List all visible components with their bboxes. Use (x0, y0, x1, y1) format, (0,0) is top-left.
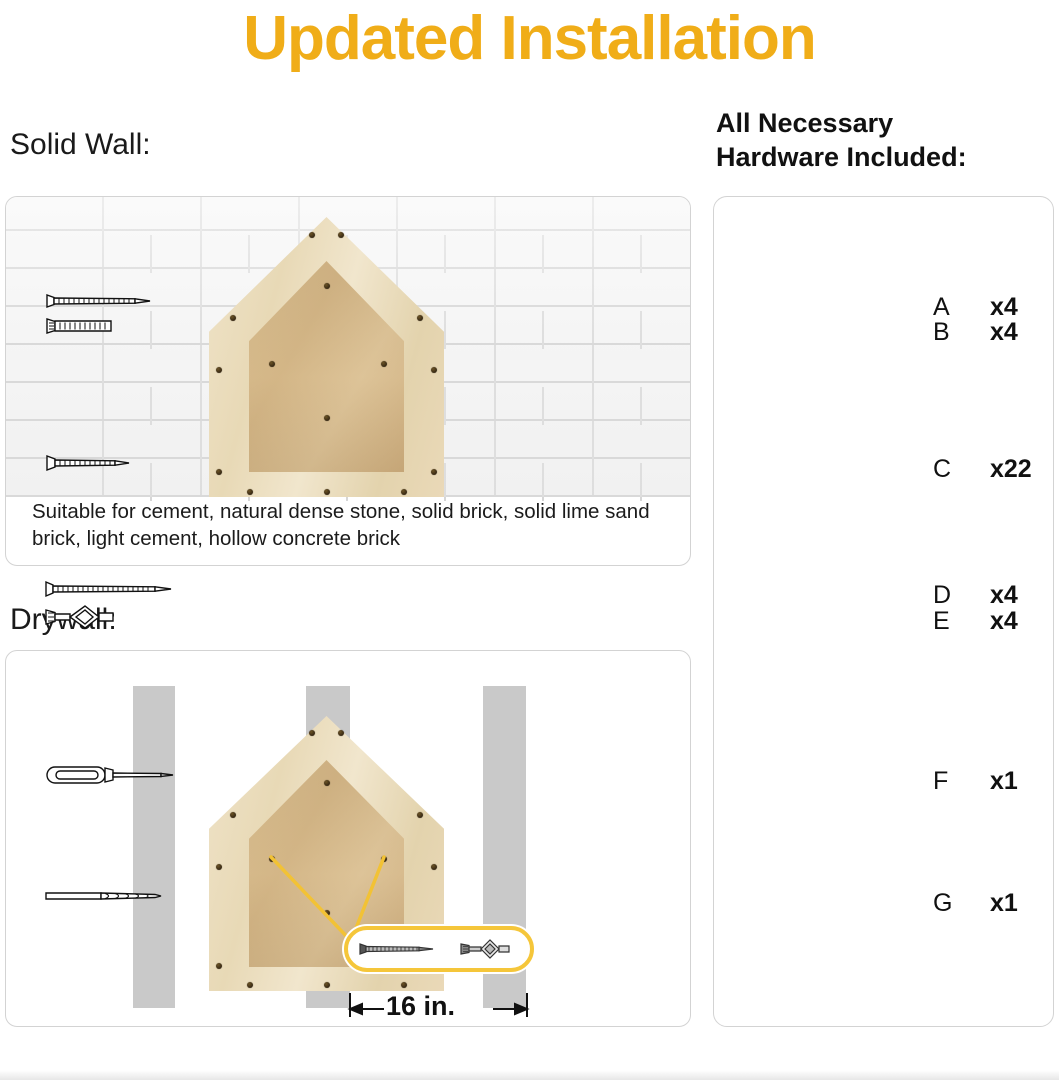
bottom-edge-divider (0, 1070, 1059, 1080)
infographic-root: Updated Installation Solid Wall: (0, 0, 1059, 1080)
solid-wall-heading: Solid Wall: (10, 126, 151, 164)
screw-hole (417, 315, 423, 321)
screw-hole (247, 982, 253, 988)
screw-hole (338, 232, 344, 238)
hardware-item-b (30, 315, 330, 337)
wood-screw-icon (43, 452, 163, 474)
hardware-qty-b: x4 (990, 317, 1018, 347)
screw-hole (324, 283, 330, 289)
screw-hole (381, 361, 387, 367)
screw-hole (401, 982, 407, 988)
drywall-anchor-callout (344, 926, 534, 972)
screw-hole (216, 367, 222, 373)
hardware-item-f (30, 760, 330, 790)
hardware-item-c (30, 452, 330, 474)
drill-bit-icon (43, 885, 183, 907)
hardware-heading: All Necessary Hardware Included: (716, 106, 967, 174)
screw-hole (247, 489, 253, 495)
hardware-item-a (30, 290, 330, 312)
long-screw-icon (43, 578, 183, 600)
hardware-heading-line2: Hardware Included: (716, 140, 967, 174)
hardware-item-g (30, 885, 330, 907)
screw-hole (324, 982, 330, 988)
hardware-code-b: B (933, 317, 950, 347)
hardware-item-d (30, 578, 330, 600)
screw-hole (381, 856, 387, 862)
molly-toggle-anchor-icon (459, 937, 521, 961)
screw-hole (269, 361, 275, 367)
hardware-qty-e: x4 (990, 606, 1018, 636)
screw-hole (230, 812, 236, 818)
long-screw-icon (357, 940, 441, 958)
flat-head-screw-icon (43, 290, 163, 312)
screw-hole (431, 469, 437, 475)
screw-hole (431, 864, 437, 870)
hardware-code-g: G (933, 888, 952, 918)
drywall-panel: 16 in. (5, 650, 691, 1027)
screw-hole (309, 232, 315, 238)
hardware-qty-c: x22 (990, 454, 1032, 484)
hardware-code-c: C (933, 454, 951, 484)
wall-plug-anchor-icon (43, 315, 163, 337)
hardware-code-e: E (933, 606, 950, 636)
wall-stud (133, 686, 175, 1008)
hardware-qty-f: x1 (990, 766, 1018, 796)
page-title: Updated Installation (0, 2, 1059, 76)
hardware-qty-g: x1 (990, 888, 1018, 918)
screw-hole (401, 489, 407, 495)
dimension-label: 16 in. (386, 991, 455, 1021)
screw-hole (417, 812, 423, 818)
screw-hole (324, 489, 330, 495)
screw-hole (309, 730, 315, 736)
hardware-item-e (30, 603, 330, 631)
screw-hole (216, 864, 222, 870)
screw-hole (338, 730, 344, 736)
screw-hole (324, 415, 330, 421)
molly-toggle-anchor-icon (43, 603, 163, 631)
hardware-code-f: F (933, 766, 948, 796)
hardware-heading-line1: All Necessary (716, 106, 967, 140)
screw-hole (324, 910, 330, 916)
solid-wall-caption: Suitable for cement, natural dense stone… (32, 498, 672, 552)
screw-hole (431, 367, 437, 373)
screwdriver-icon (43, 760, 193, 790)
screw-hole (216, 963, 222, 969)
screw-hole (269, 856, 275, 862)
